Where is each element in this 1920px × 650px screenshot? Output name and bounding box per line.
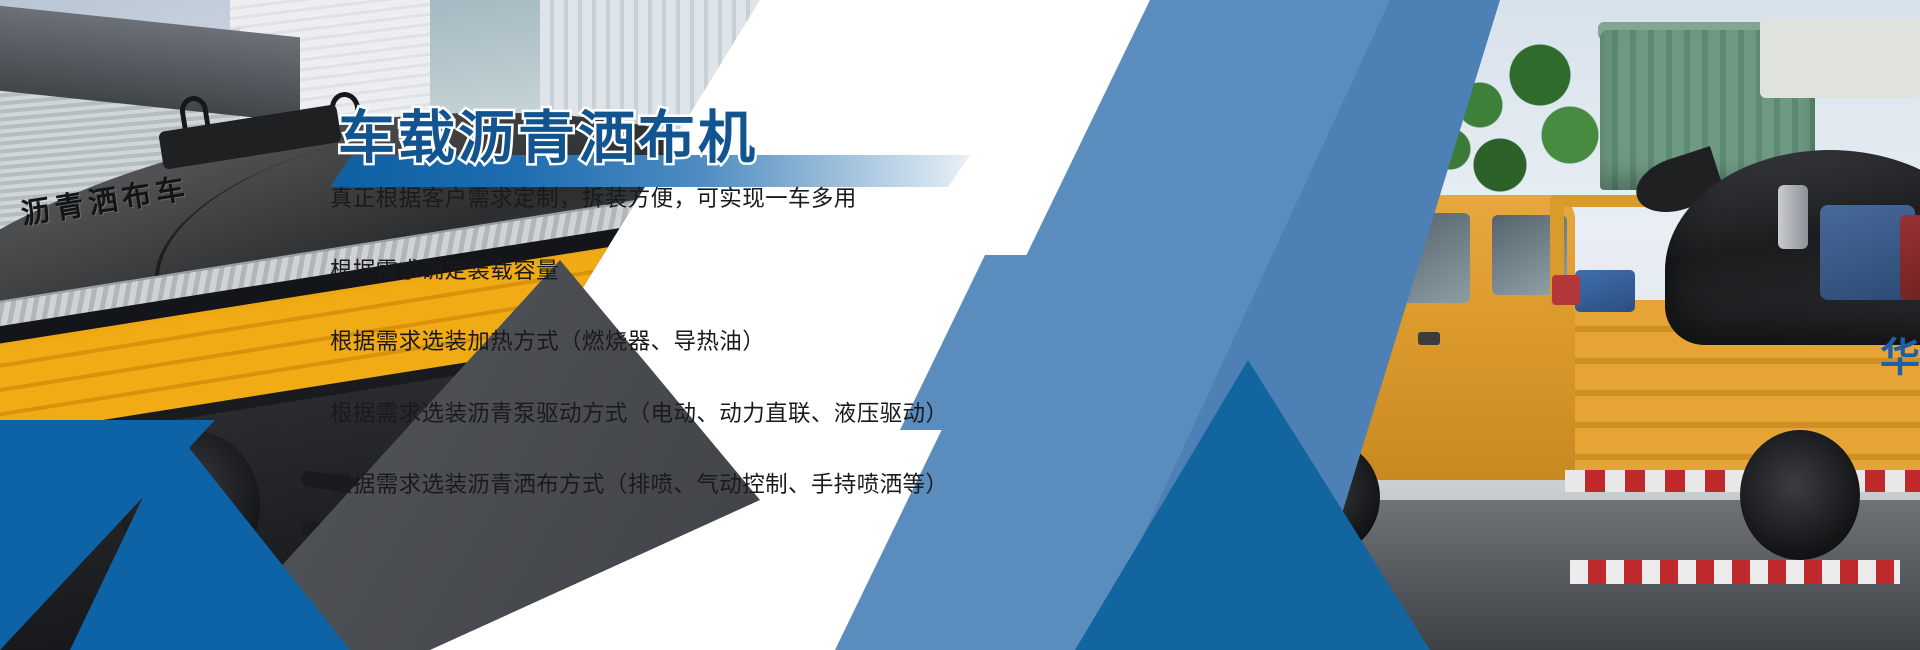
feature-list: 真正根据客户需求定制，拆装方便，可实现一车多用 根据需求确定装载容量 根据需求选… <box>330 188 1050 497</box>
cab-window <box>1375 213 1470 303</box>
truck-cab-front <box>1215 240 1285 490</box>
list-item: 根据需求选装加热方式（燃烧器、导热油） <box>330 331 1050 354</box>
asphalt-pump <box>1575 270 1635 312</box>
rear-bumper-stripe <box>1570 560 1900 584</box>
product-banner: 沥青洒布车 <box>0 0 1920 650</box>
tank-outlet-pipe <box>1778 185 1808 249</box>
list-item: 根据需求确定装载容量 <box>330 260 1050 283</box>
control-box <box>1552 275 1580 305</box>
headache-rack <box>1550 195 1564 325</box>
door-handle <box>1418 332 1440 345</box>
brand-logo: 华 <box>1872 330 1920 386</box>
right-truck-photo: 华 <box>1120 0 1920 650</box>
list-item: 根据需求选装沥青洒布方式（排喷、气动控制、手持喷洒等） <box>330 474 1050 497</box>
truck-wheel <box>1740 430 1860 560</box>
cab-window <box>1270 215 1355 300</box>
banner-content: 车载沥青洒布机 真正根据客户需求定制，拆装方便，可实现一车多用 根据需求确定装载… <box>330 0 1050 650</box>
white-cover <box>1760 18 1920 98</box>
list-item: 根据需求选装沥青泵驱动方式（电动、动力直联、液压驱动） <box>330 403 1050 426</box>
door-handle <box>1320 332 1342 345</box>
side-mirror <box>1230 225 1264 265</box>
page-title: 车载沥青洒布机 <box>338 92 758 174</box>
list-item: 真正根据客户需求定制，拆装方便，可实现一车多用 <box>330 188 1050 211</box>
engine-side-unit <box>1900 215 1920 300</box>
truck-wheel <box>1270 440 1380 555</box>
